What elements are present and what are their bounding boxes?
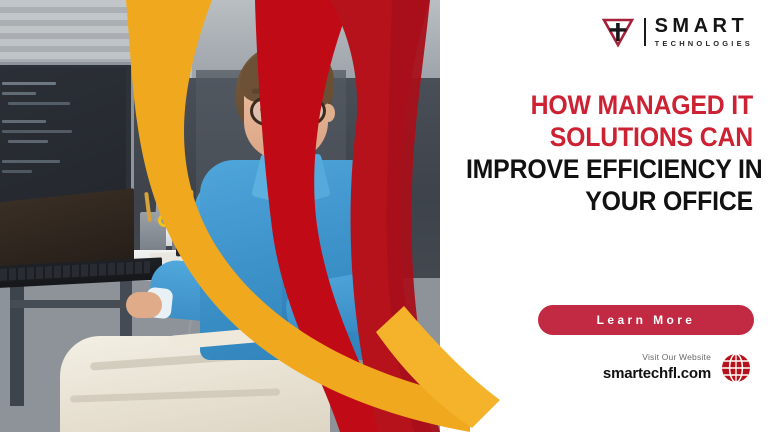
scissors-ring-left — [158, 214, 171, 227]
headline-line-1: HOW MANAGED IT — [466, 90, 753, 122]
monitor-screen — [0, 68, 126, 206]
content-panel: SMART TECHNOLOGIES HOW MANAGED IT SOLUTI… — [430, 0, 768, 432]
smart-technologies-triangle-logo — [601, 16, 635, 48]
shirt-button — [285, 286, 291, 292]
headline-line-2: SOLUTIONS CAN — [466, 122, 753, 154]
headline-line-4: YOUR OFFICE — [466, 186, 753, 218]
shirt-button — [285, 250, 291, 256]
website-text: Visit Our Website smartechfl.com — [603, 353, 711, 382]
desk-rail — [10, 300, 134, 308]
desk-leg-left — [10, 278, 24, 406]
hero-photo — [0, 0, 440, 432]
eyeglasses-bridge — [283, 106, 294, 109]
globe-icon — [720, 352, 752, 384]
shirt-button — [285, 214, 291, 220]
person-nose — [280, 118, 289, 136]
learn-more-button[interactable]: Learn More — [538, 305, 754, 335]
eyeglasses-lens-left — [250, 96, 284, 126]
brand-logo[interactable]: SMART TECHNOLOGIES — [601, 16, 753, 48]
marketing-banner: SMART TECHNOLOGIES HOW MANAGED IT SOLUTI… — [0, 0, 768, 432]
headline: HOW MANAGED IT SOLUTIONS CAN IMPROVE EFF… — [441, 90, 753, 217]
website-label: Visit Our Website — [603, 353, 711, 363]
person-teeth — [270, 140, 300, 146]
logo-brand-name: SMART — [655, 16, 753, 36]
website-domain: smartechfl.com — [603, 365, 711, 382]
headline-line-3: IMPROVE EFFICIENCY IN — [466, 154, 753, 186]
logo-wordmark: SMART TECHNOLOGIES — [655, 16, 753, 48]
logo-divider — [644, 18, 646, 46]
eyeglasses-lens-right — [292, 96, 326, 126]
website-block[interactable]: Visit Our Website smartechfl.com — [603, 352, 752, 384]
scissors-ring-right — [170, 216, 183, 229]
logo-brand-subtitle: TECHNOLOGIES — [655, 40, 753, 48]
person-left-hand — [126, 292, 162, 318]
